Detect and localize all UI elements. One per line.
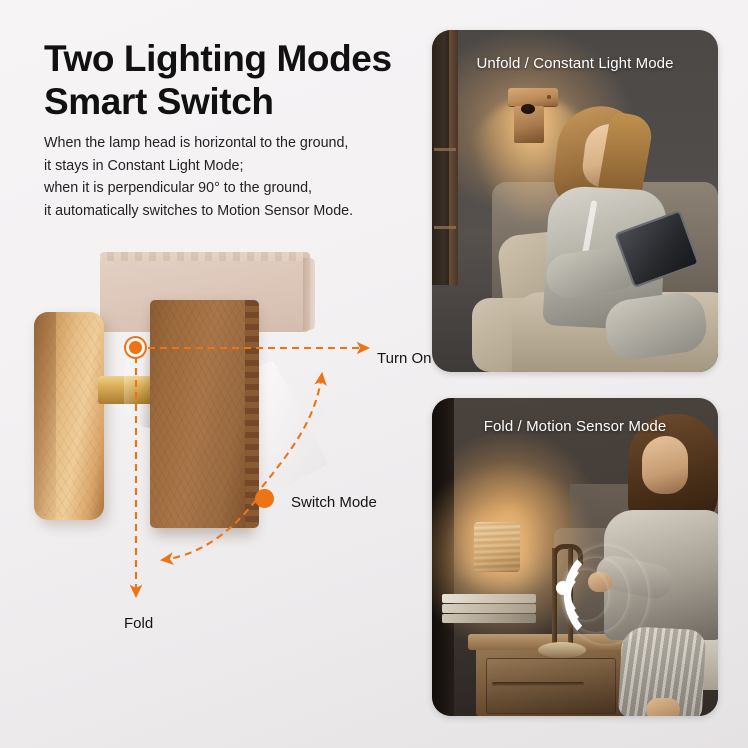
- infographic-page: Two Lighting Modes Smart Switch When the…: [0, 0, 748, 748]
- switch-mode-marker: [255, 489, 274, 508]
- switch-mode-arc-up: [262, 374, 322, 487]
- label-fold: Fold: [124, 615, 153, 632]
- pivot-point-marker: [129, 341, 142, 354]
- label-turn-on: Turn On: [377, 350, 431, 367]
- switch-mode-arc-left: [162, 500, 256, 560]
- annotation-arrows: [0, 0, 748, 748]
- label-switch-mode: Switch Mode: [291, 494, 377, 511]
